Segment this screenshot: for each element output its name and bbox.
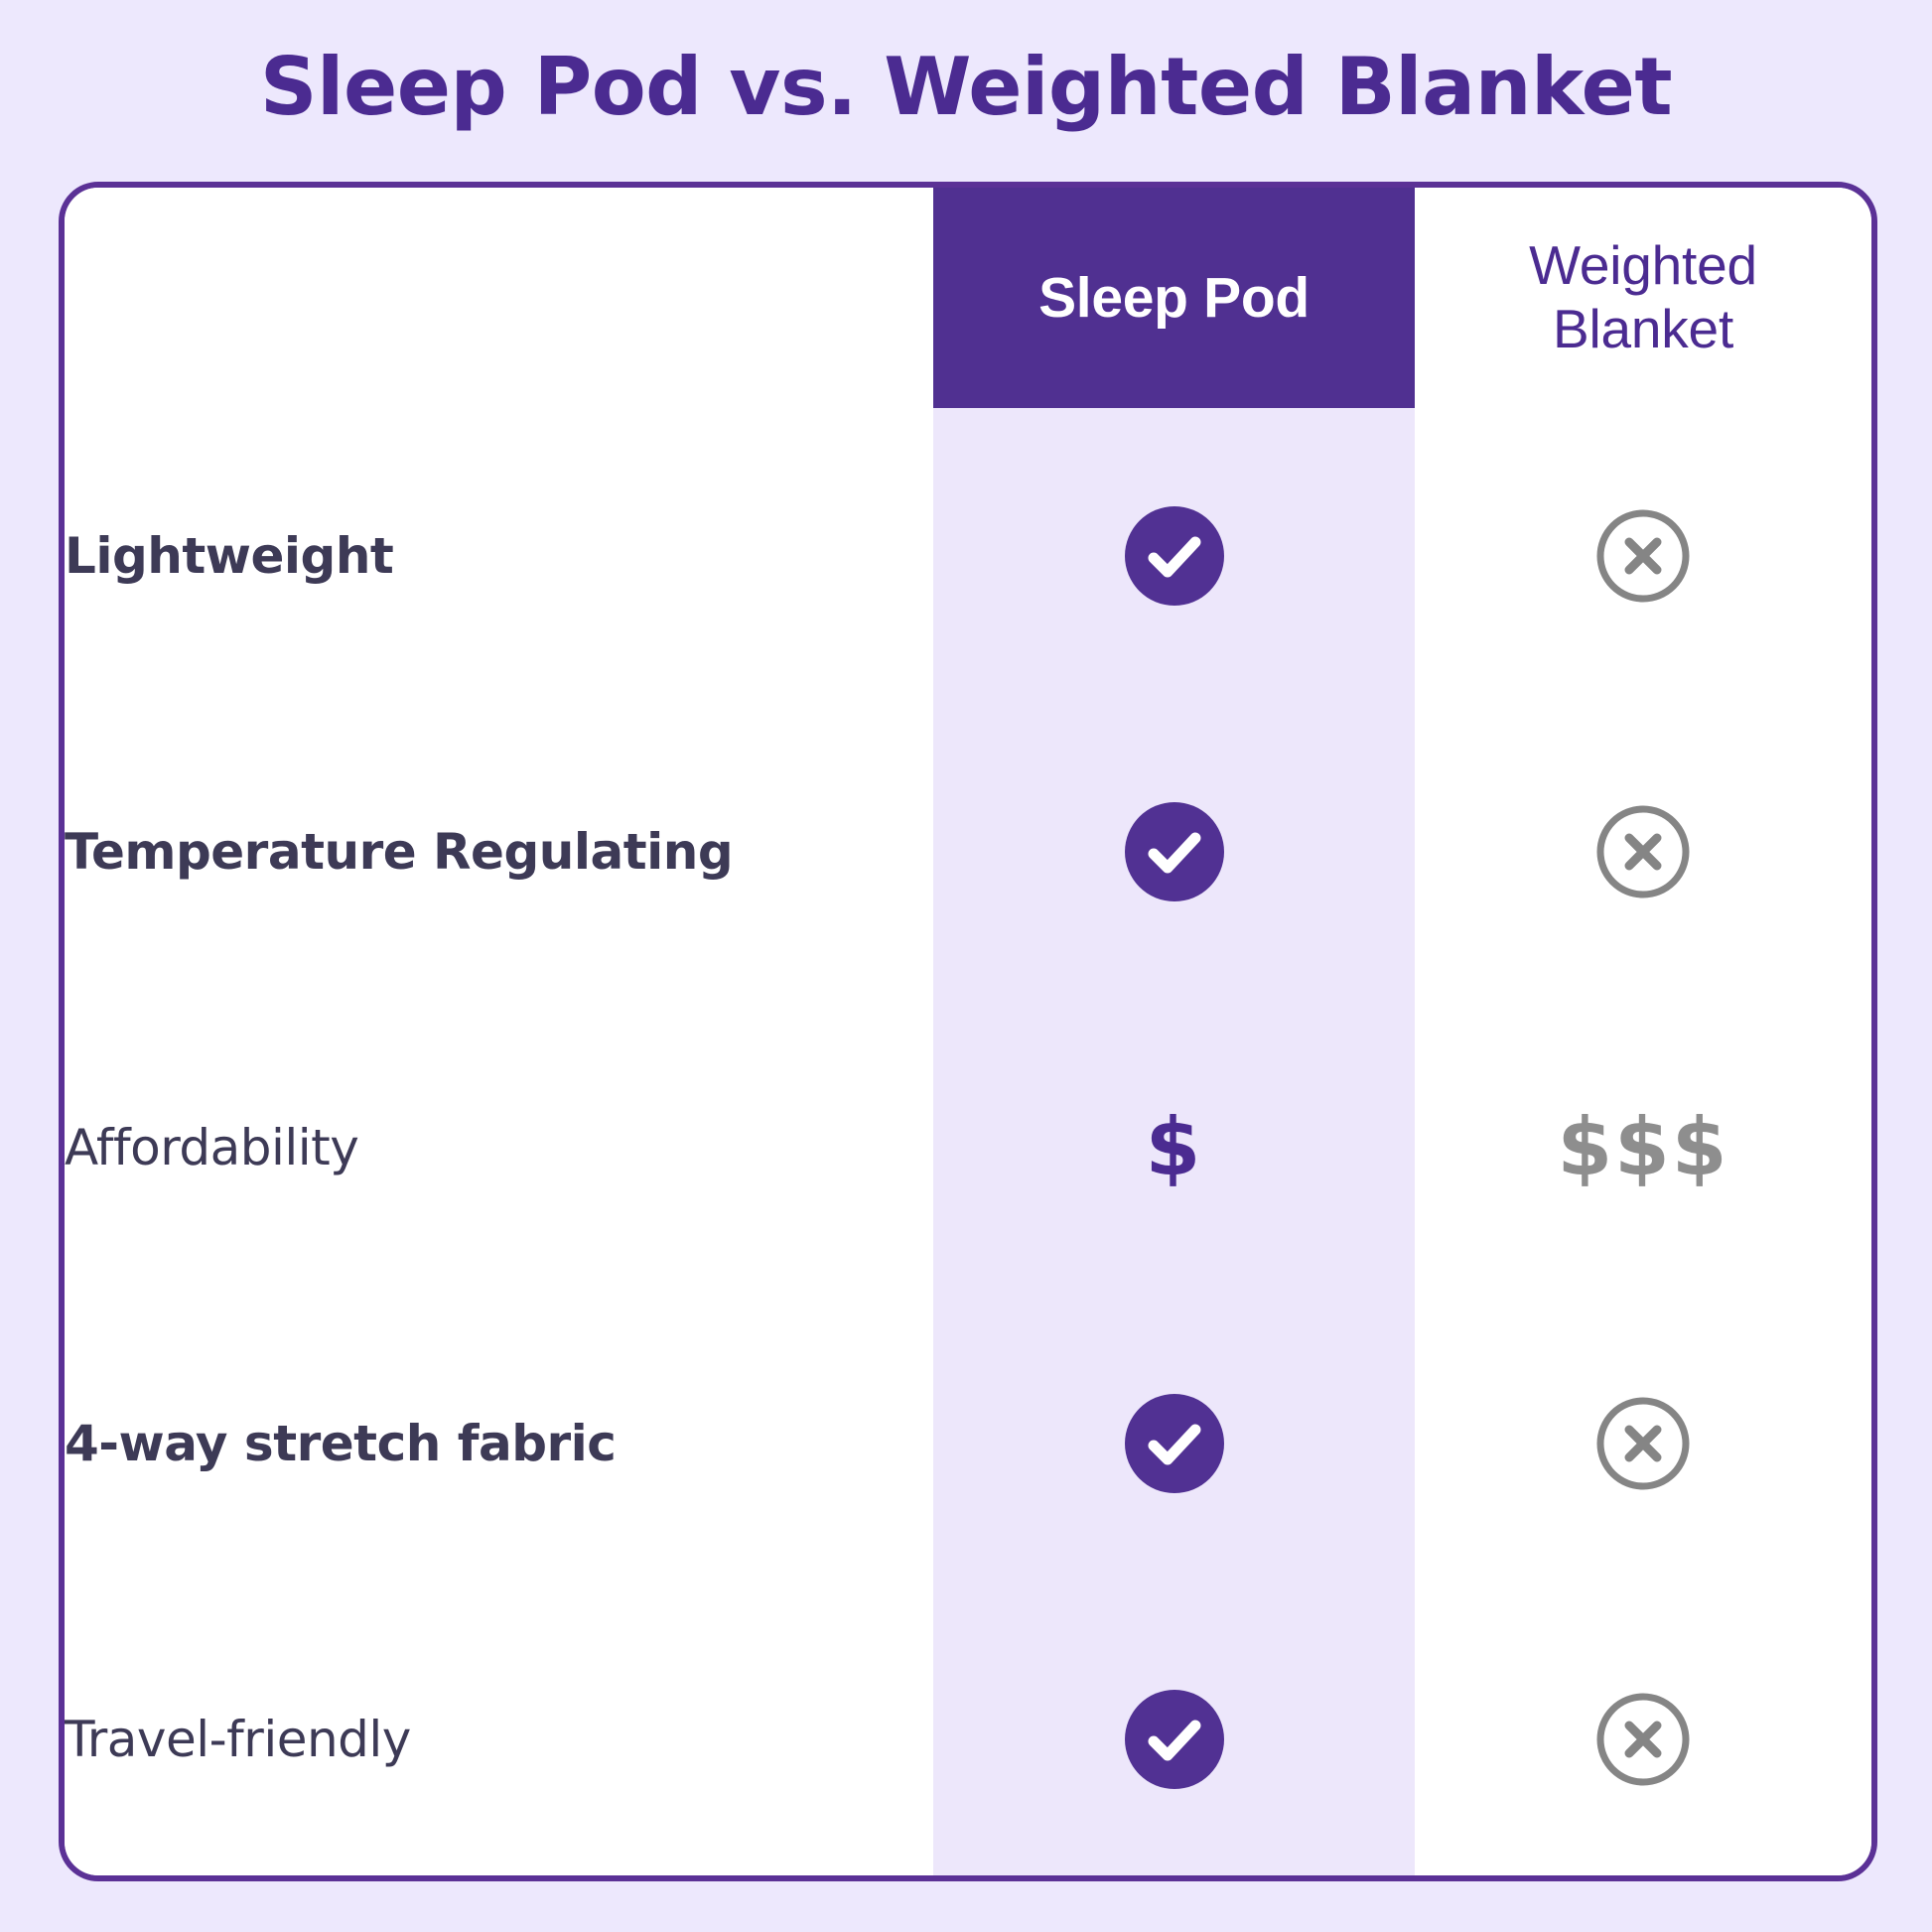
feature-label-4-way-stretch-fabric: 4-way stretch fabric	[65, 1296, 933, 1591]
x-circle-outline-icon	[1593, 1690, 1693, 1789]
cell-weighted-blanket-affordability: $$$	[1415, 1000, 1871, 1296]
comparison-table: Sleep Pod Weighted Blanket Lightweight	[65, 188, 1871, 1881]
table-row: Temperature Regulating	[65, 704, 1871, 1000]
table-row: Lightweight	[65, 408, 1871, 704]
feature-label-affordability: Affordability	[65, 1000, 933, 1296]
check-circle-filled-icon	[1125, 1394, 1224, 1493]
dollar-sign-icon: $$$	[1558, 1101, 1729, 1193]
feature-label-travel-friendly: Travel-friendly	[65, 1591, 933, 1881]
check-circle-filled-icon	[1125, 506, 1224, 606]
cell-weighted-blanket-lightweight	[1415, 408, 1871, 704]
feature-label-temperature-regulating: Temperature Regulating	[65, 704, 933, 1000]
header-weighted-blanket-line2: Blanket	[1553, 298, 1733, 359]
comparison-table-container: Sleep Pod Weighted Blanket Lightweight	[59, 182, 1877, 1881]
cell-sleep-pod-4-way-stretch-fabric	[933, 1296, 1415, 1591]
x-circle-outline-icon	[1593, 802, 1693, 901]
table-header-row: Sleep Pod Weighted Blanket	[65, 188, 1871, 408]
header-feature-blank	[65, 188, 933, 408]
table-row: 4-way stretch fabric	[65, 1296, 1871, 1591]
cell-weighted-blanket-travel-friendly	[1415, 1591, 1871, 1881]
check-circle-filled-icon	[1125, 1690, 1224, 1789]
cell-sleep-pod-travel-friendly	[933, 1591, 1415, 1881]
x-circle-outline-icon	[1593, 506, 1693, 606]
cell-weighted-blanket-4-way-stretch-fabric	[1415, 1296, 1871, 1591]
cell-sleep-pod-affordability: $	[933, 1000, 1415, 1296]
comparison-infographic: Sleep Pod vs. Weighted Blanket Sleep Pod…	[0, 0, 1932, 1932]
dollar-sign-icon: $	[1146, 1101, 1203, 1193]
page-title: Sleep Pod vs. Weighted Blanket	[0, 44, 1932, 131]
table-row: Affordability $ $$$	[65, 1000, 1871, 1296]
feature-label-lightweight: Lightweight	[65, 408, 933, 704]
header-sleep-pod: Sleep Pod	[933, 188, 1415, 408]
x-circle-outline-icon	[1593, 1394, 1693, 1493]
check-circle-filled-icon	[1125, 802, 1224, 901]
header-weighted-blanket-line1: Weighted	[1529, 234, 1757, 296]
table-row: Travel-friendly	[65, 1591, 1871, 1881]
cell-sleep-pod-lightweight	[933, 408, 1415, 704]
cell-sleep-pod-temperature-regulating	[933, 704, 1415, 1000]
cell-weighted-blanket-temperature-regulating	[1415, 704, 1871, 1000]
header-weighted-blanket: Weighted Blanket	[1415, 188, 1871, 408]
